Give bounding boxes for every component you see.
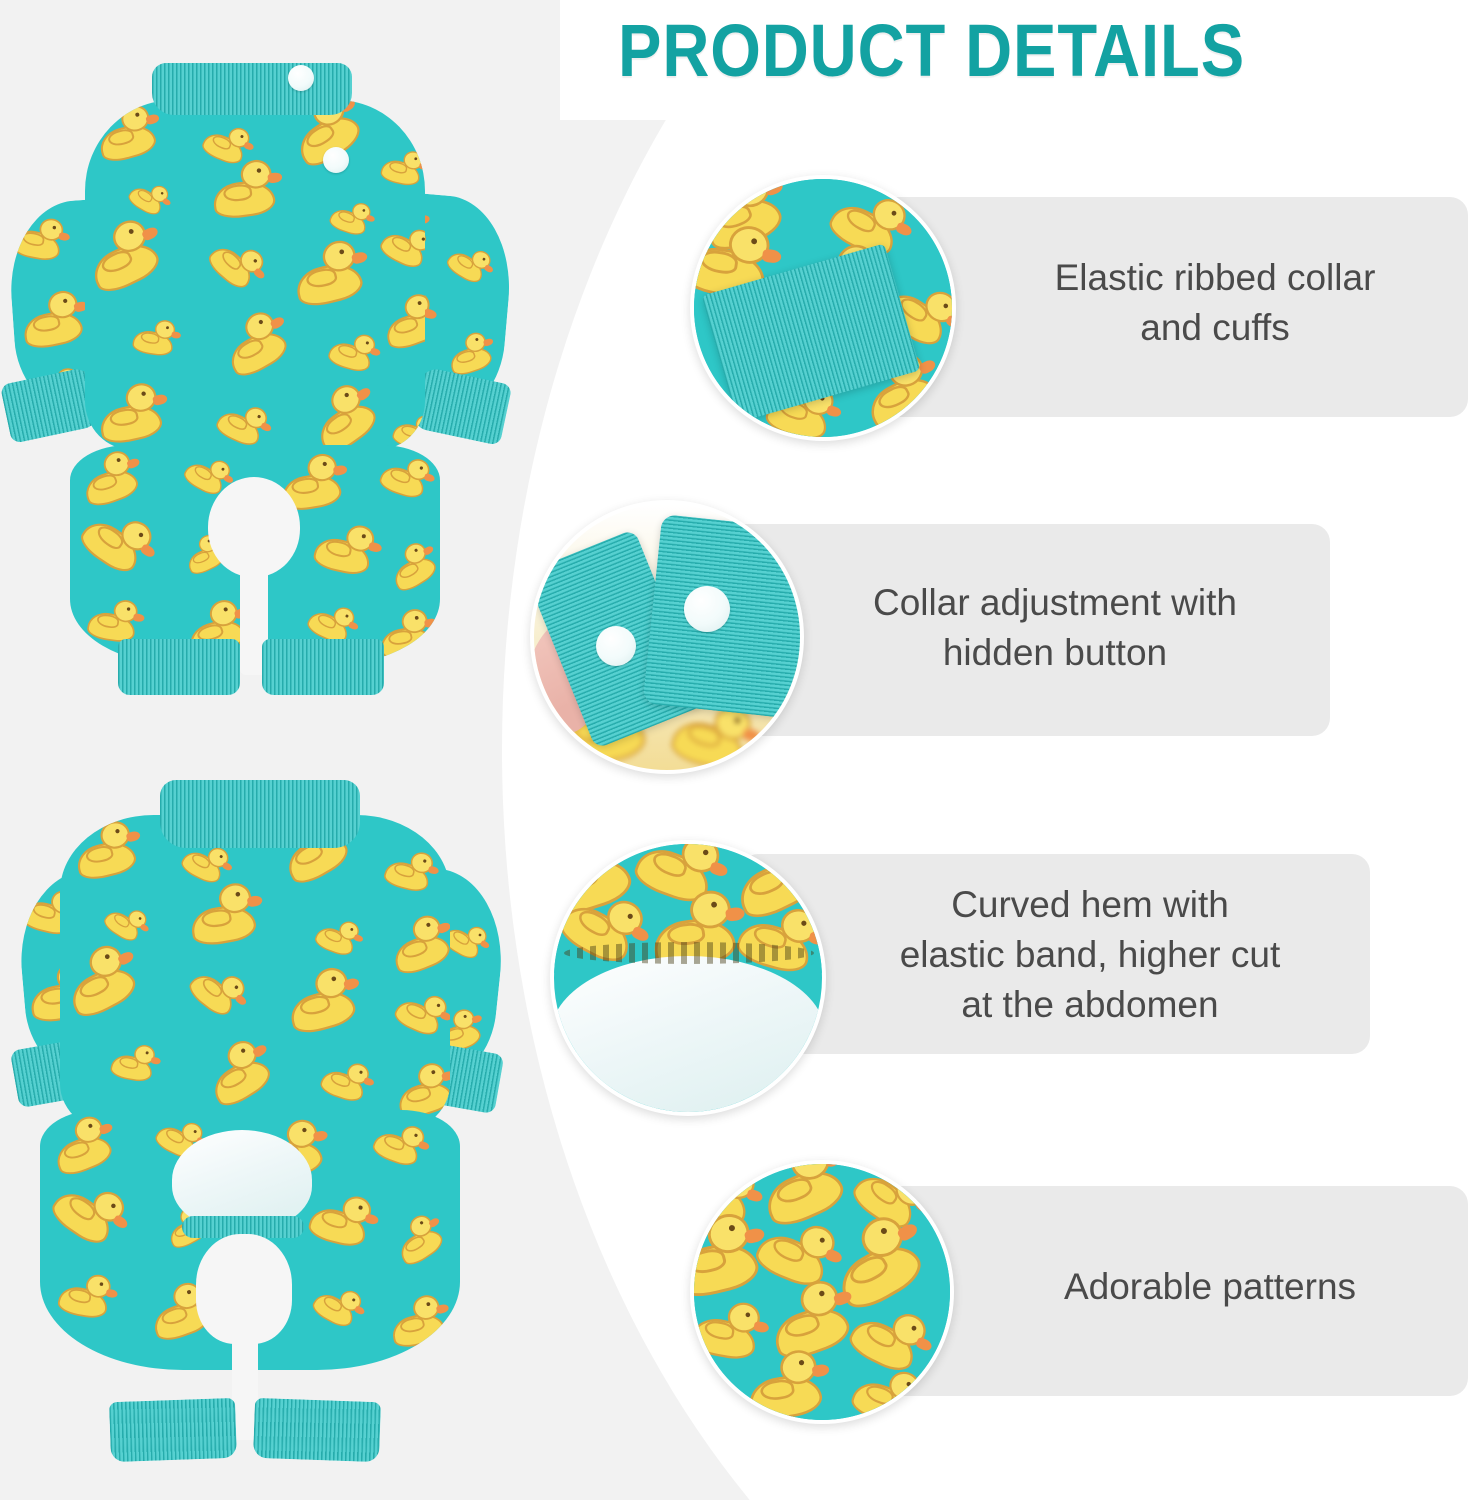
- fabric-duck-print: [694, 1164, 950, 1420]
- front-leg-opening: [208, 477, 300, 577]
- front-collar: [152, 63, 352, 115]
- product-image-back-view: [0, 760, 500, 1480]
- back-white-lining: [172, 1130, 312, 1230]
- callout-1-text: Elastic ribbed collar and cuffs: [980, 253, 1450, 353]
- callout-1: Elastic ribbed collar and cuffs: [690, 175, 1470, 440]
- hidden-snap-button-left: [596, 626, 636, 666]
- elastic-seam-stitching: [564, 942, 814, 964]
- callout-3: Curved hem with elastic band, higher cut…: [550, 840, 1370, 1115]
- collar-snap-button-top: [288, 65, 314, 91]
- front-right-leg-cuff: [262, 639, 384, 695]
- callout-4-image-duck-pattern-closeup: [690, 1160, 954, 1424]
- callout-3-image-elastic-hem-closeup: [550, 840, 826, 1116]
- product-details-infographic: PRODUCT DETAILS: [0, 0, 1478, 1500]
- back-torso: [60, 815, 450, 1135]
- callout-2-text: Collar adjustment with hidden button: [790, 578, 1320, 678]
- collar-snap-button-lower: [323, 147, 349, 173]
- front-torso: [85, 100, 425, 450]
- callout-3-text: Curved hem with elastic band, higher cut…: [820, 880, 1360, 1030]
- hidden-snap-button-right: [684, 586, 730, 632]
- fabric-duck-print: [85, 100, 425, 450]
- callout-4-text: Adorable patterns: [970, 1262, 1450, 1312]
- hem-white-lining: [550, 956, 826, 1116]
- front-left-leg-cuff: [118, 639, 240, 695]
- back-right-leg-cuff: [253, 1398, 381, 1462]
- page-title: PRODUCT DETAILS: [618, 8, 1245, 94]
- callout-2: Collar adjustment with hidden button: [530, 500, 1330, 770]
- callout-2-image-hidden-button-closeup: [530, 500, 804, 774]
- back-ribbed-waistband: [160, 780, 360, 848]
- fabric-duck-print: [60, 815, 450, 1135]
- product-image-front-view: [0, 45, 500, 715]
- back-left-leg-cuff: [109, 1398, 237, 1462]
- callout-1-image-ribbed-cuff-closeup: [690, 175, 956, 441]
- callout-4: Adorable patterns: [690, 1160, 1470, 1425]
